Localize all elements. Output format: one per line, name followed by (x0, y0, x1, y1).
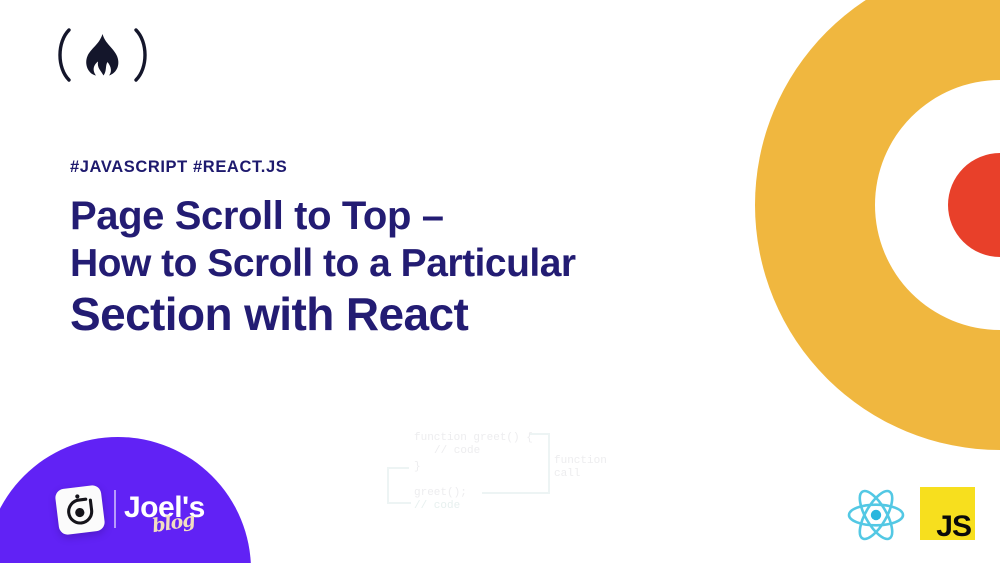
javascript-logo-label: JS (936, 512, 971, 542)
joels-blog-brand[interactable]: Joel's blog (57, 484, 217, 546)
brand-icon-tile (54, 484, 105, 535)
watermark-code-line-5: // code (414, 500, 460, 513)
watermark-function-call-label: function call (554, 455, 607, 481)
watermark-connector-left-bottom (387, 502, 411, 504)
watermark-code-line-4: greet(); (414, 487, 467, 500)
title-line-2: How to Scroll to a Particular (70, 244, 710, 283)
article-cover-canvas: #JAVASCRIPT #REACT.JS Page Scroll to Top… (0, 0, 1000, 563)
watermark-code-line-2: // code (434, 445, 480, 458)
javascript-logo: JS (920, 487, 975, 540)
watermark-connector-top (530, 433, 550, 435)
react-logo (845, 484, 907, 546)
article-tags: #JAVASCRIPT #REACT.JS (70, 158, 287, 177)
watermark-code-line-1: function greet() { (414, 432, 533, 445)
watermark-connector-left-top (387, 467, 409, 469)
freecodecamp-logo (55, 24, 150, 86)
watermark-connector-left (387, 467, 389, 503)
code-snippet-watermark: function greet() { // code } greet(); //… (382, 425, 632, 520)
title-line-3: Section with React (70, 291, 710, 337)
brand-divider (114, 490, 116, 528)
title-line-1: Page Scroll to Top – (70, 196, 710, 236)
article-title: Page Scroll to Top – How to Scroll to a … (70, 196, 710, 337)
watermark-connector-bottom (482, 492, 550, 494)
watermark-connector-right (548, 433, 550, 493)
watermark-code-line-3: } (414, 461, 421, 474)
joel-monogram-icon (60, 490, 100, 530)
